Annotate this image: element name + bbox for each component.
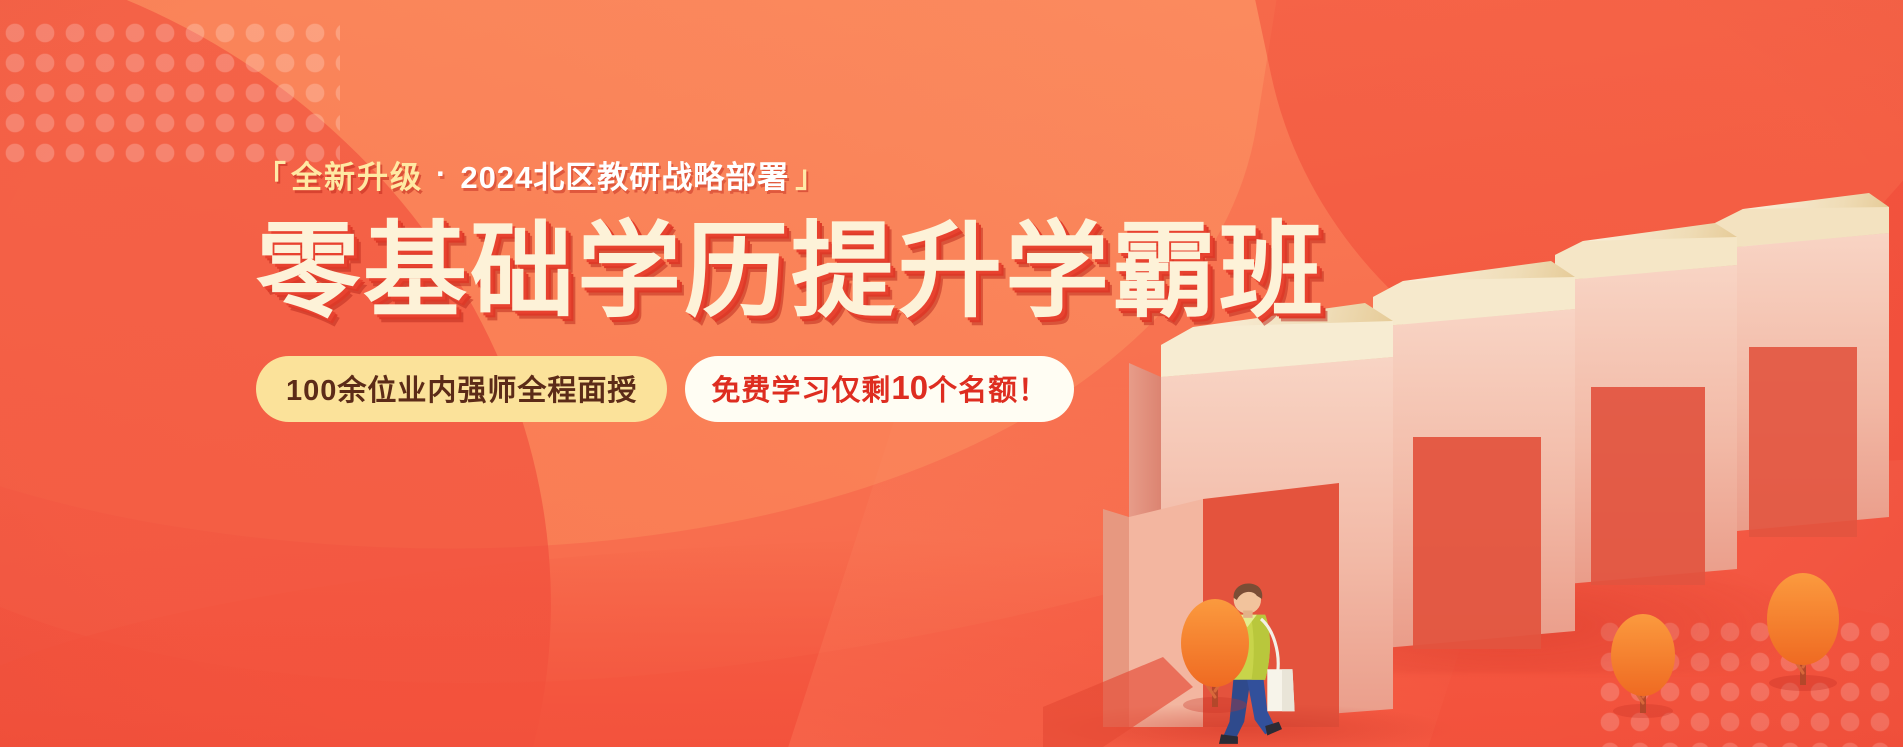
bracket-open: 「 (256, 152, 287, 196)
banner-copy: 「 全新升级 · 2024北区教研战略部署 」 零基础学历提升学霸班 100余位… (256, 148, 1016, 422)
promo-banner: 「 全新升级 · 2024北区教研战略部署 」 零基础学历提升学霸班 100余位… (0, 0, 1903, 747)
quota-badge-number: 10 (891, 369, 928, 407)
bracket-close: 」 (795, 152, 826, 196)
banner-title: 零基础学历提升学霸班 (256, 216, 1016, 328)
banner-subtitle: 「 全新升级 · 2024北区教研战略部署 」 (256, 148, 1016, 200)
subtitle-separator: · (436, 156, 447, 192)
teachers-badge: 100余位业内强师全程面授 (256, 356, 667, 422)
quota-badge-suffix: 个名额！ (928, 367, 1048, 409)
banner-badges: 100余位业内强师全程面授 免费学习仅剩 10 个名额！ (256, 356, 1016, 422)
illustration-ground-shadow (1123, 553, 1823, 673)
subtitle-rest: 2024北区教研战略部署 (460, 152, 789, 197)
quota-badge-prefix: 免费学习仅剩 (711, 367, 891, 409)
teachers-badge-label: 100余位业内强师全程面授 (286, 367, 637, 409)
subtitle-highlight: 全新升级 (291, 152, 423, 197)
quota-badge: 免费学习仅剩 10 个名额！ (685, 356, 1074, 422)
